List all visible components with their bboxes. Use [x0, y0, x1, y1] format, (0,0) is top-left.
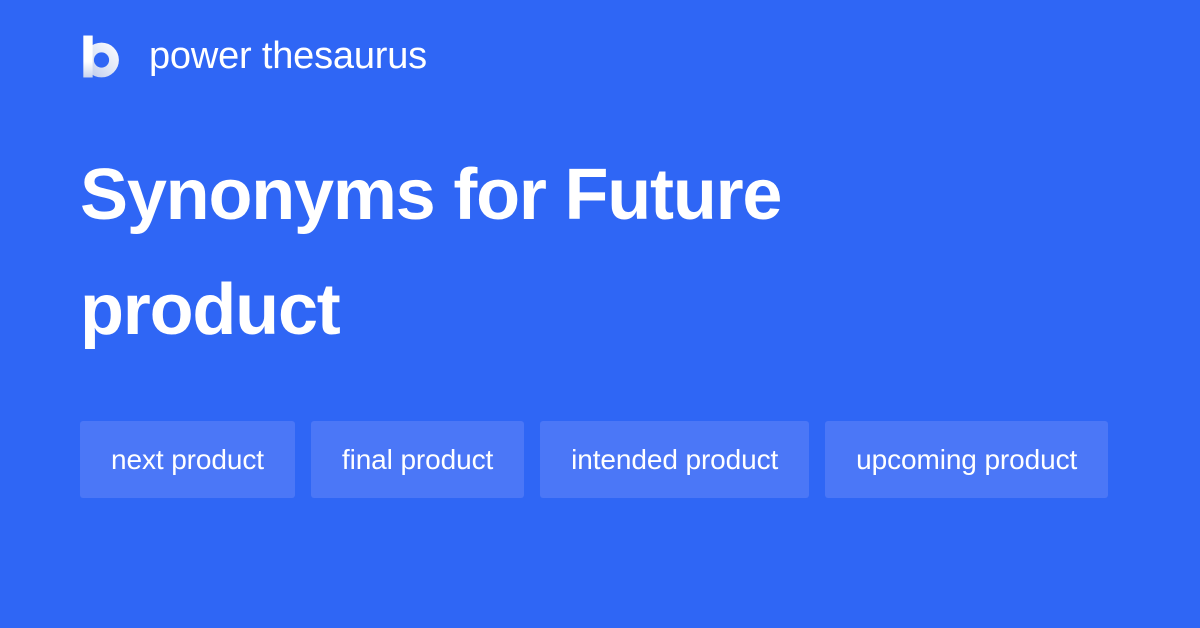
- synonym-chip[interactable]: upcoming product: [825, 421, 1108, 498]
- synonym-chip-list: next product final product intended prod…: [80, 421, 1120, 498]
- synonym-chip[interactable]: next product: [80, 421, 295, 498]
- power-thesaurus-b-logo-icon: [80, 34, 125, 79]
- page-title: Synonyms for Future product: [80, 138, 980, 368]
- synonym-chip[interactable]: final product: [311, 421, 524, 498]
- synonym-chip[interactable]: intended product: [540, 421, 809, 498]
- share-card: power thesaurus Synonyms for Future prod…: [0, 0, 1200, 628]
- brand-header[interactable]: power thesaurus: [80, 30, 427, 82]
- brand-wordmark: power thesaurus: [149, 37, 427, 75]
